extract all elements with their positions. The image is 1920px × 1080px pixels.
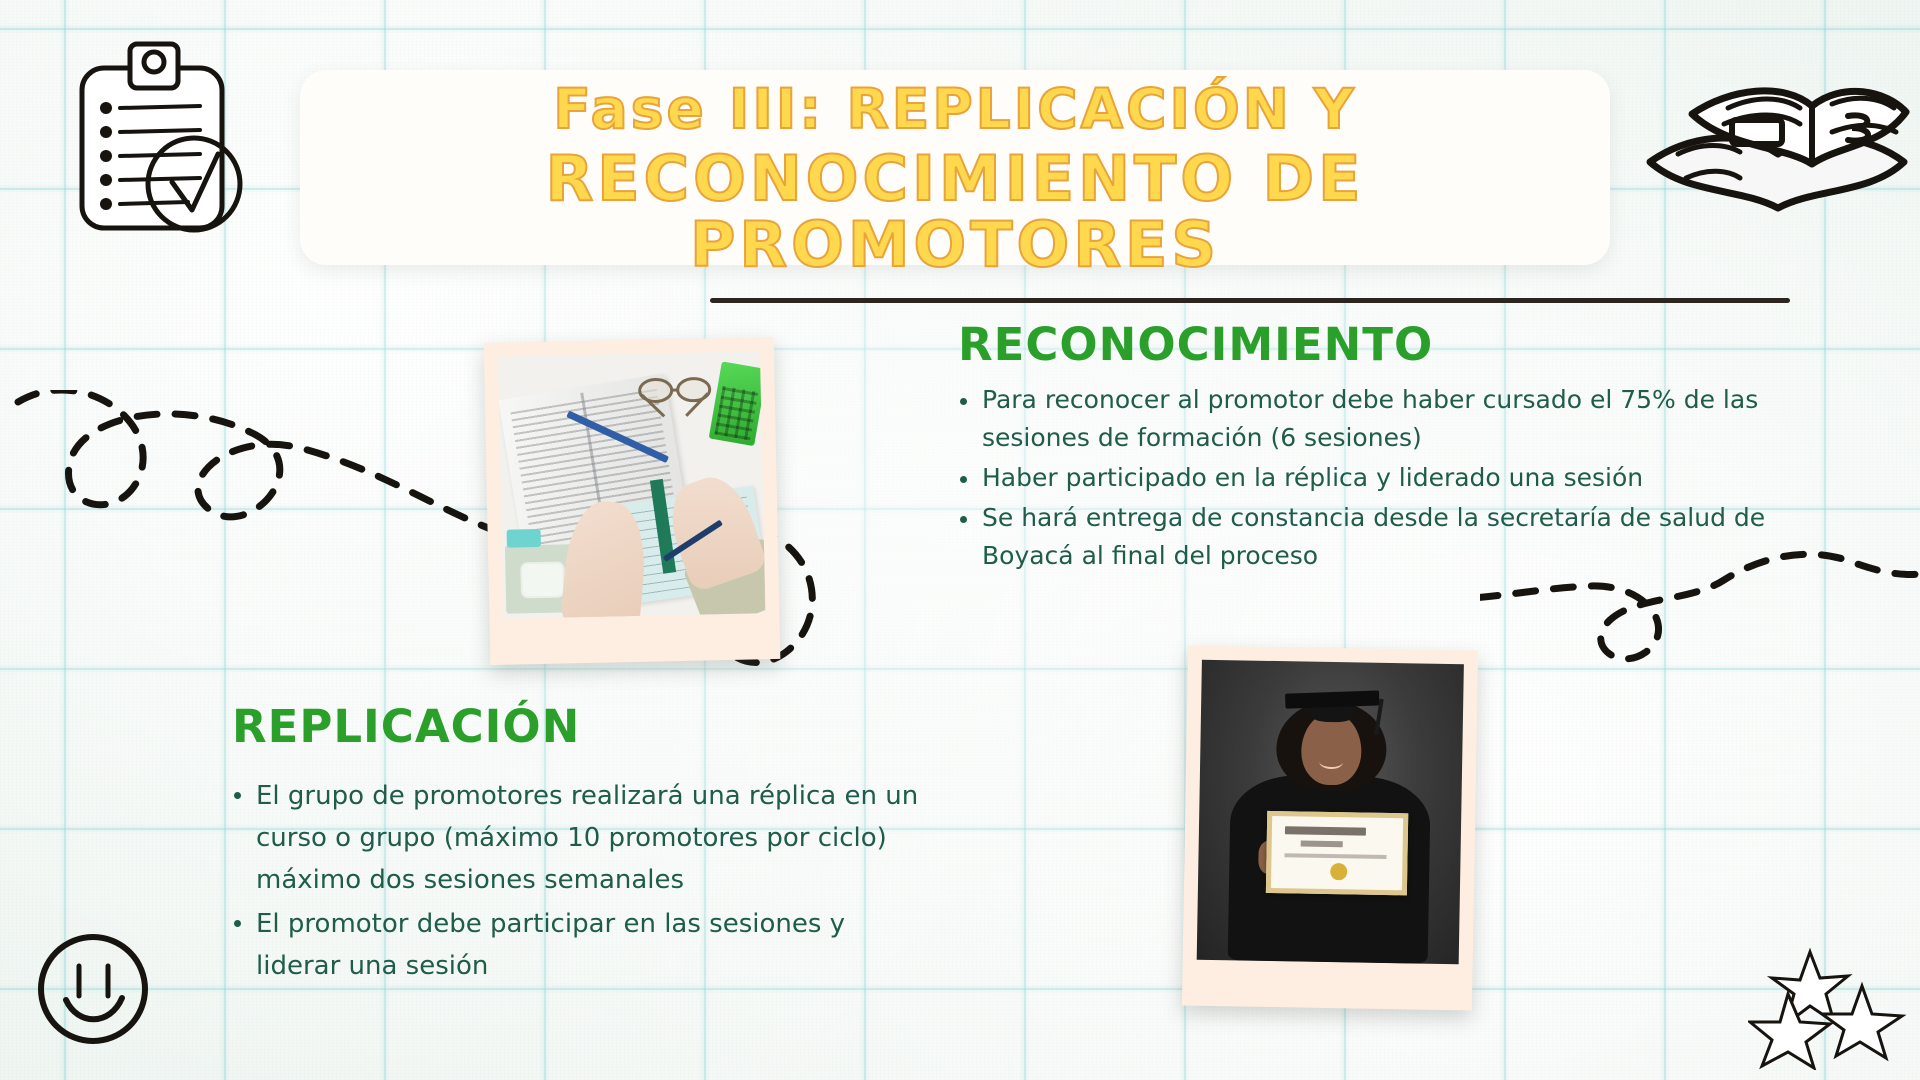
heading-replicacion: REPLICACIÓN: [232, 700, 922, 753]
heading-reconocimiento: RECONOCIMIENTO: [958, 318, 1768, 371]
certificate-seal: [1330, 863, 1347, 881]
bullet-list-reconocimiento: Para reconocer al promotor debe haber cu…: [958, 381, 1768, 575]
certificate-title-line: [1285, 826, 1366, 835]
photo-graduate-image: [1197, 660, 1464, 965]
list-item: Se hará entrega de constancia desde la s…: [958, 499, 1768, 575]
calculator-shape: [709, 362, 766, 447]
list-item: Para reconocer al promotor debe haber cu…: [958, 381, 1768, 457]
title-underline: [710, 298, 1790, 303]
smiley-face-icon: [34, 930, 152, 1048]
section-replicacion: REPLICACIÓN El grupo de promotores reali…: [232, 700, 922, 990]
certificate-name-line: [1301, 841, 1343, 847]
title-line-2: RECONOCIMIENTO DE PROMOTORES: [300, 146, 1610, 277]
photo-study-desk: [484, 337, 781, 665]
photo-study-desk-image: [498, 351, 765, 618]
clipboard-checklist-icon: [68, 32, 258, 242]
list-item: El promotor debe participar en las sesio…: [232, 903, 922, 987]
certificate-body-line: [1285, 854, 1387, 859]
face-shape: [1301, 712, 1362, 785]
eyeglasses-shape: [637, 376, 714, 418]
slide-canvas: Fase III: REPLICACIÓN Y RECONOCIMIENTO D…: [0, 0, 1920, 1080]
section-reconocimiento: RECONOCIMIENTO Para reconocer al promoto…: [958, 318, 1768, 577]
bullet-list-replicacion: El grupo de promotores realizará una rép…: [232, 775, 922, 988]
title-card: Fase III: REPLICACIÓN Y RECONOCIMIENTO D…: [300, 70, 1610, 265]
photo-graduate: [1182, 645, 1478, 1010]
list-item: Haber participado en la réplica y lidera…: [958, 459, 1768, 497]
certificate-shape: [1266, 811, 1408, 895]
eraser-shape: [507, 529, 541, 548]
title-line-1: Fase III: REPLICACIÓN Y: [300, 80, 1610, 138]
graduation-cap-shape: [1285, 690, 1380, 708]
three-stars-icon: [1748, 946, 1908, 1070]
list-item: El grupo de promotores realizará una rép…: [232, 775, 922, 901]
title-lines: Fase III: REPLICACIÓN Y RECONOCIMIENTO D…: [300, 80, 1610, 278]
smile-shape: [1319, 755, 1343, 769]
open-books-icon: [1636, 58, 1916, 238]
